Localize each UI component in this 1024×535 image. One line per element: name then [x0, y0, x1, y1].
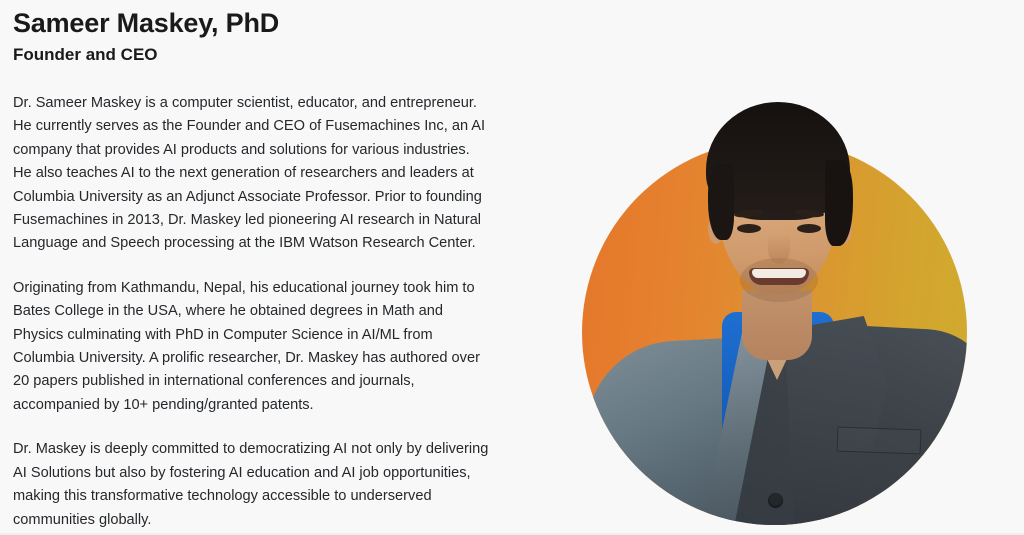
person-role-subtitle: Founder and CEO — [13, 40, 513, 66]
hair-side-left — [708, 164, 734, 240]
portrait-figure — [560, 40, 1000, 535]
bio-paragraph: Originating from Kathmandu, Nepal, his e… — [13, 277, 491, 417]
bio-paragraph: Dr. Sameer Maskey is a computer scientis… — [13, 92, 491, 256]
eye-right — [797, 224, 821, 233]
teeth — [752, 269, 806, 278]
nose — [768, 234, 790, 264]
portrait-head-group — [582, 140, 967, 525]
bio-text-column: Sameer Maskey, PhD Founder and CEO Dr. S… — [13, 0, 513, 532]
mouth — [749, 268, 809, 285]
bio-paragraph: Dr. Maskey is deeply committed to democr… — [13, 438, 491, 532]
hair-side-right — [825, 160, 853, 246]
leadership-bio-section: Sameer Maskey, PhD Founder and CEO Dr. S… — [0, 0, 1024, 535]
eye-left — [737, 224, 761, 233]
page-title: Sameer Maskey, PhD — [13, 0, 513, 40]
bio-paragraph-list: Dr. Sameer Maskey is a computer scientis… — [13, 66, 513, 532]
